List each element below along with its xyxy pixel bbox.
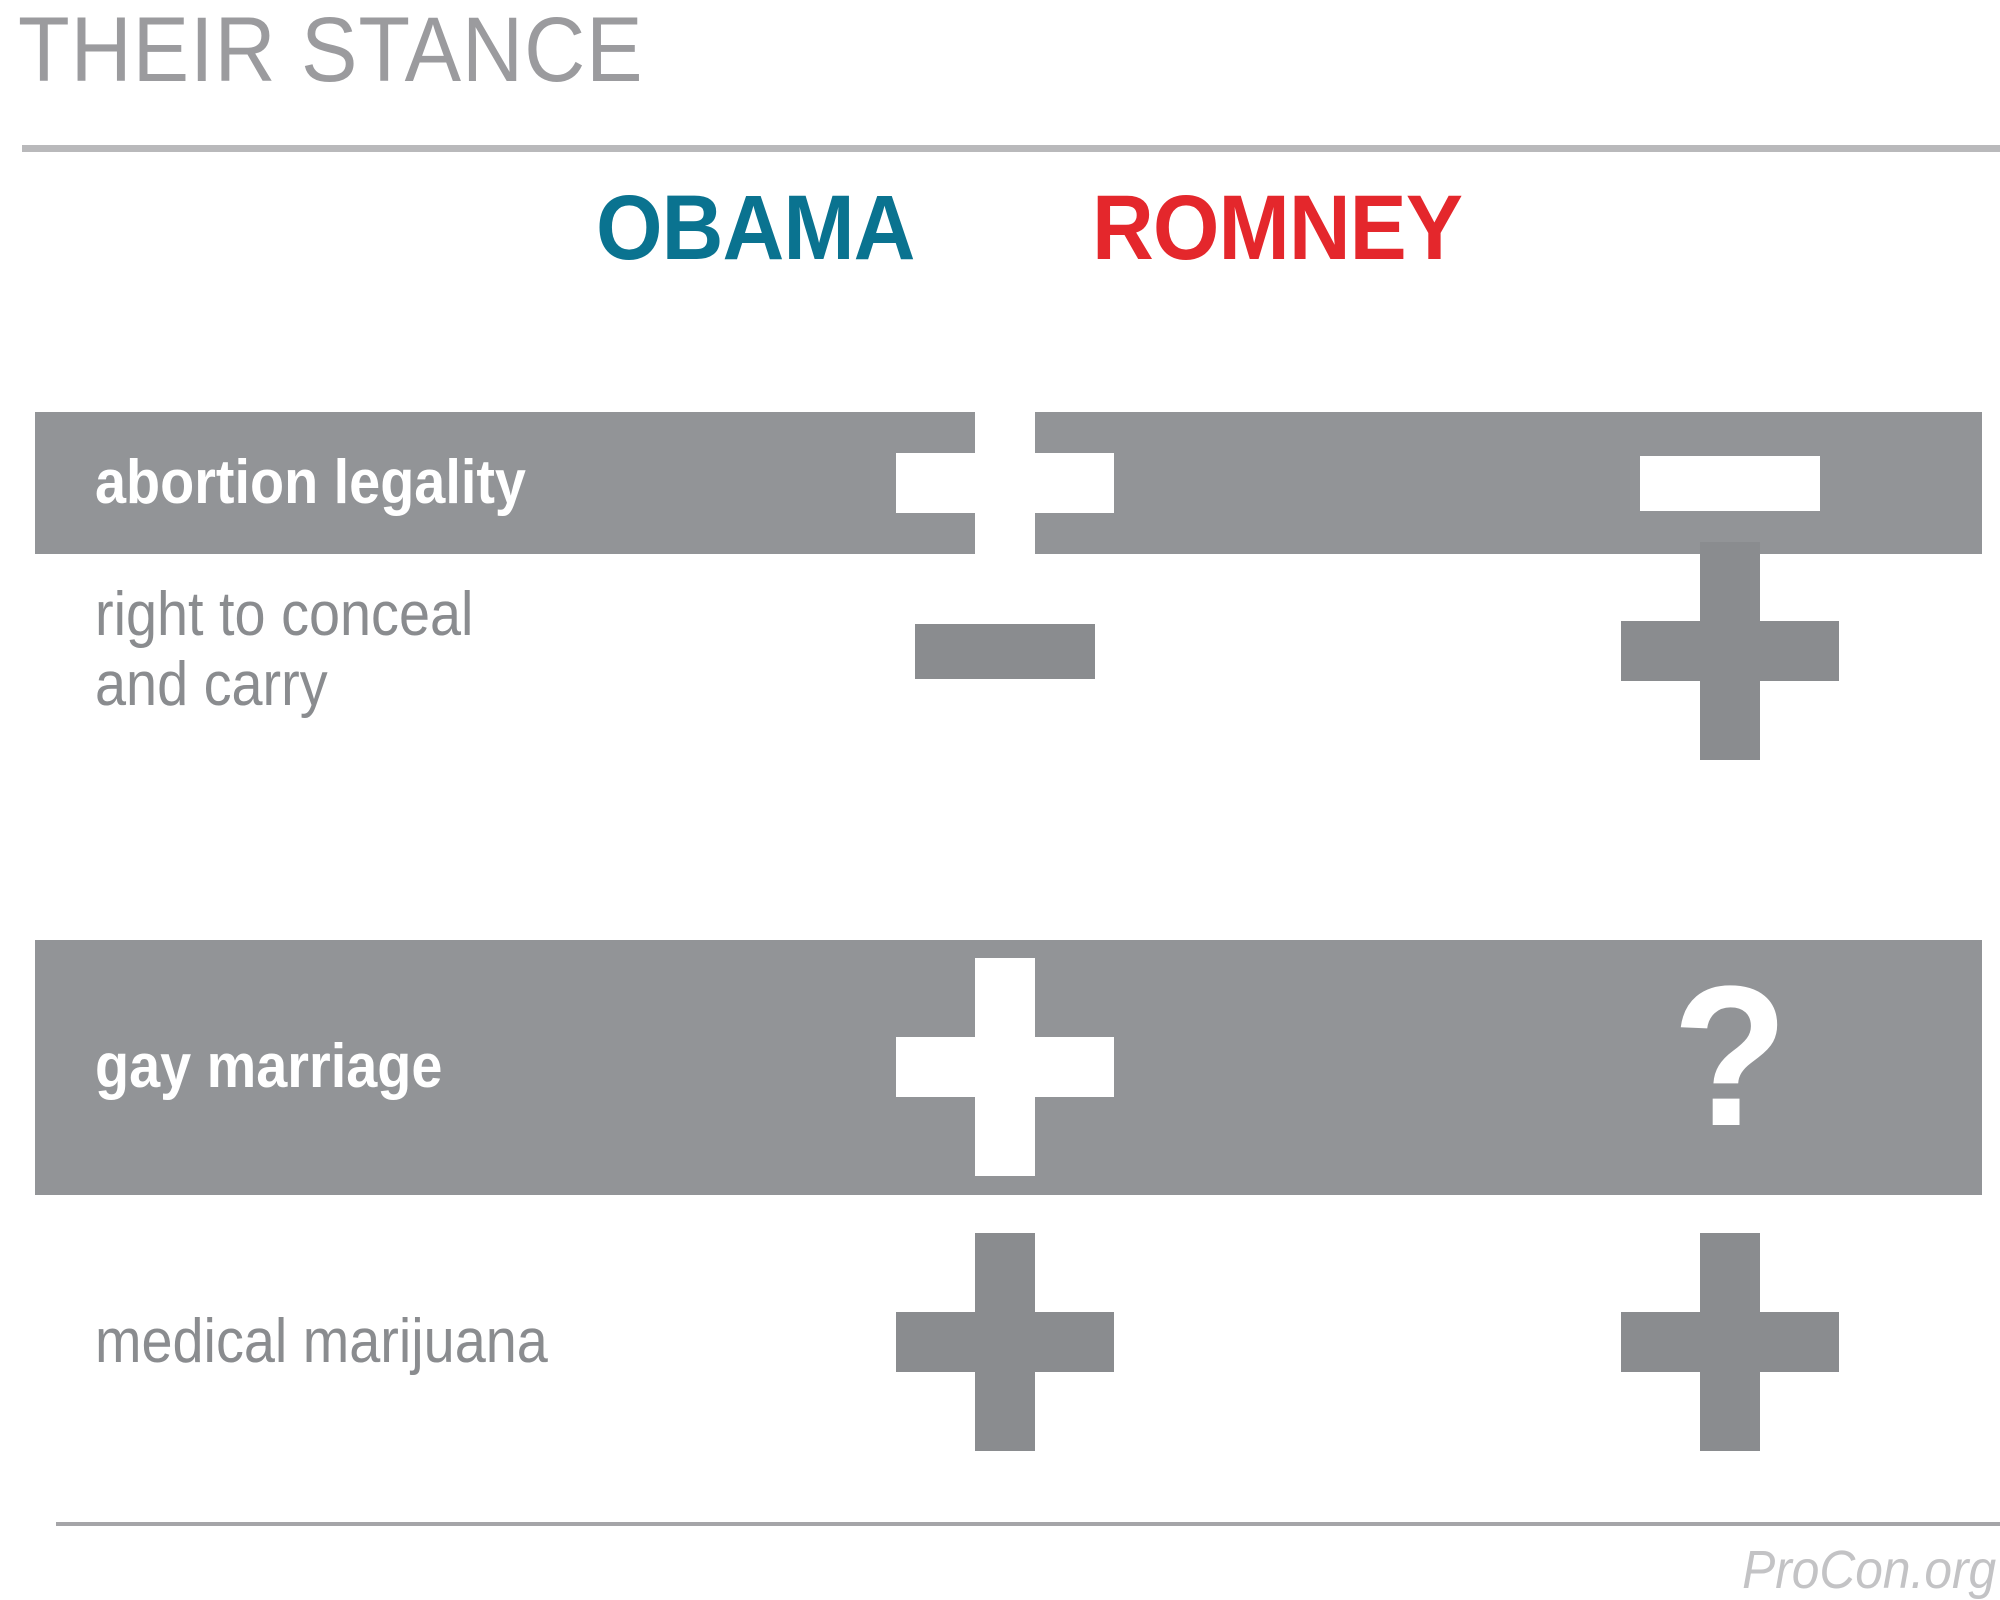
plus-icon [1621, 1233, 1839, 1451]
row-label: medical marijuana [95, 1307, 548, 1377]
row-label: abortion legality [95, 448, 526, 518]
cell-obama [855, 1243, 1155, 1441]
cell-romney [1580, 1243, 1880, 1441]
row-label: right to conceal and carry [95, 580, 473, 720]
row-label: gay marriage [95, 1032, 442, 1102]
table-row: medical marijuana [0, 1215, 2000, 1415]
minus-icon [1640, 456, 1820, 511]
plus-icon [896, 1233, 1114, 1451]
stance-table: abortion legality right to conceal and c… [0, 0, 2000, 1600]
footer-divider [56, 1522, 2000, 1526]
cell-romney: ? [1580, 948, 1880, 1166]
plus-icon [1621, 542, 1839, 760]
table-row: abortion legality [0, 412, 2000, 554]
table-row: gay marriage ? [0, 940, 2000, 1195]
minus-icon [915, 624, 1095, 679]
table-row: right to conceal and carry [0, 572, 2000, 732]
plus-icon [896, 958, 1114, 1176]
cell-obama [855, 958, 1155, 1176]
infographic-root: THEIR STANCE OBAMA ROMNEY abortion legal… [0, 0, 2000, 1600]
cell-romney [1580, 552, 1880, 750]
cell-obama [855, 552, 1155, 750]
question-mark-icon: ? [1672, 957, 1788, 1157]
source-credit: ProCon.org [1742, 1540, 1996, 1600]
